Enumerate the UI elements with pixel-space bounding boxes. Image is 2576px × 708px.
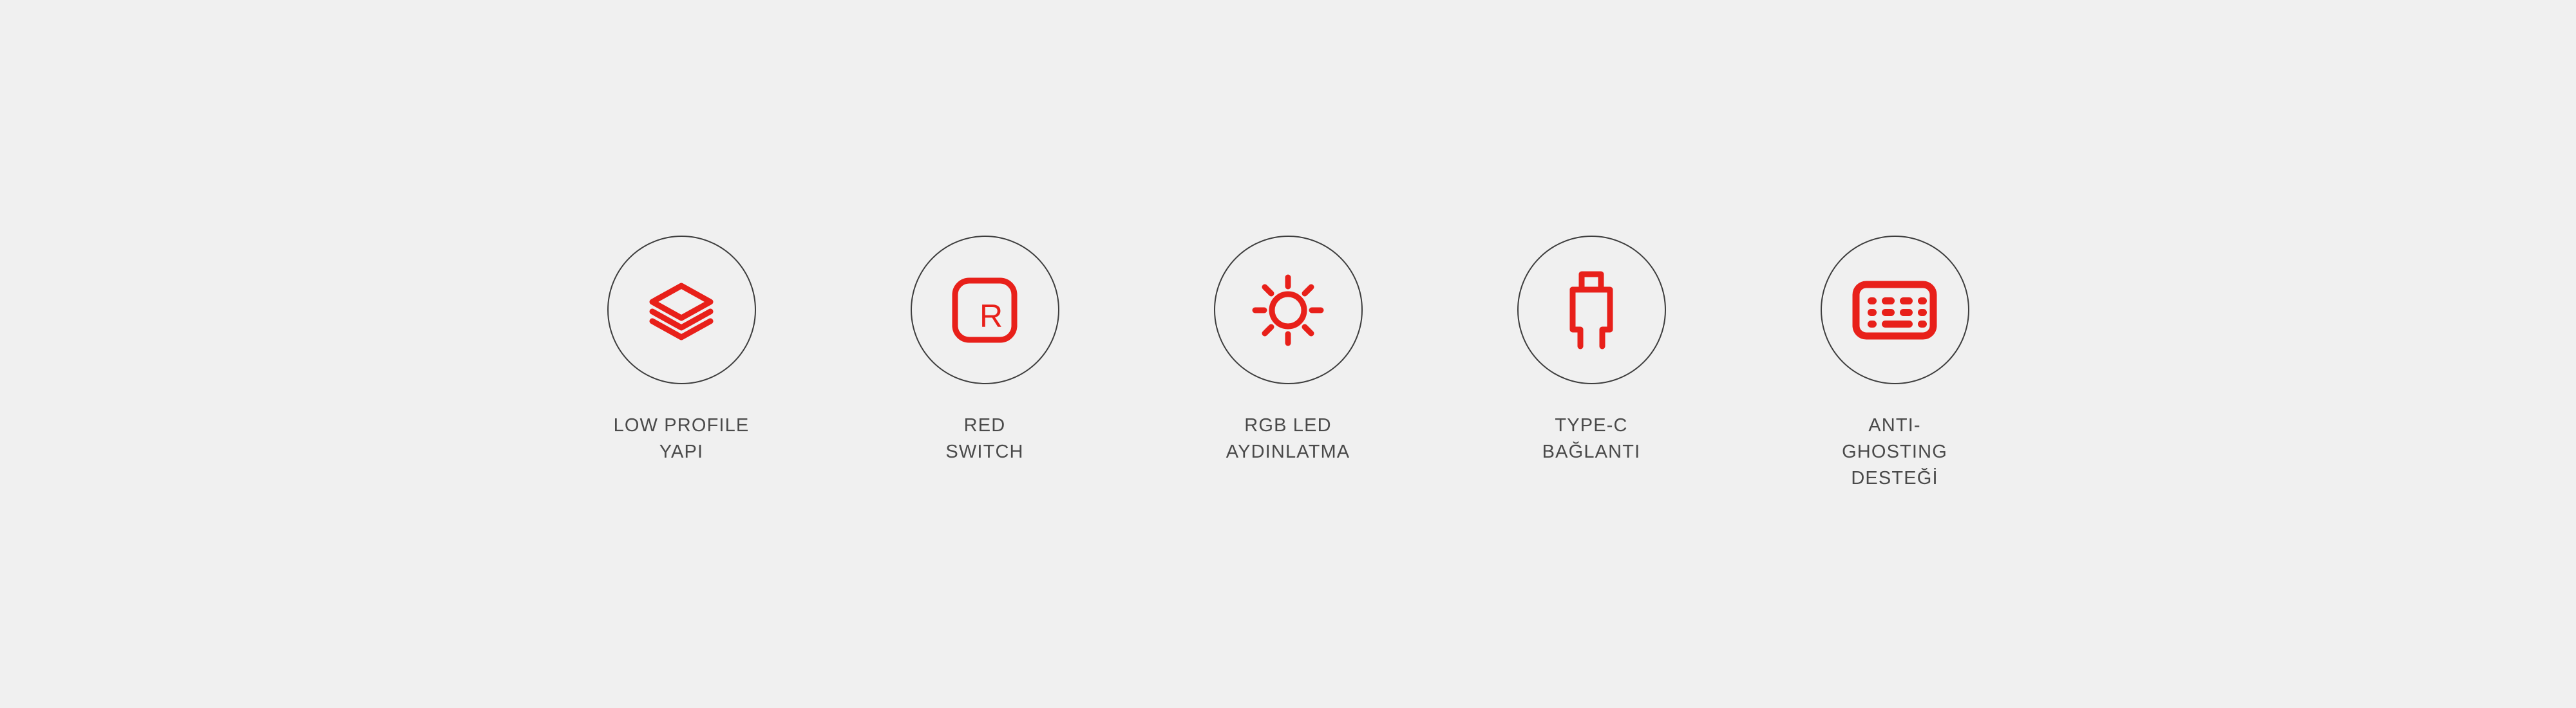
icon-circle-low-profile	[607, 236, 756, 384]
feature-item-red-switch: R RED SWITCH	[911, 236, 1059, 465]
red-switch-key-letter: R	[980, 298, 1003, 334]
feature-label-low-profile: LOW PROFILE YAPI	[614, 413, 750, 465]
icon-circle-type-c	[1517, 236, 1666, 384]
layers-icon	[643, 272, 720, 349]
icon-circle-anti-ghosting	[1821, 236, 1969, 384]
feature-label-rgb-led: RGB LED AYDINLATMA	[1226, 413, 1350, 465]
usb-type-c-connector-icon	[1566, 270, 1616, 350]
keyboard-icon	[1852, 278, 1937, 342]
feature-item-low-profile: LOW PROFILE YAPI	[607, 236, 756, 465]
feature-label-red-switch: RED SWITCH	[945, 413, 1023, 465]
icon-circle-rgb-led	[1214, 236, 1363, 384]
feature-item-type-c: TYPE-C BAĞLANTI	[1517, 236, 1666, 465]
feature-label-type-c: TYPE-C BAĞLANTI	[1542, 413, 1641, 465]
sun-brightness-icon	[1250, 272, 1326, 348]
red-switch-key-icon: R	[950, 275, 1019, 345]
feature-highlights-strip: LOW PROFILE YAPI R RED SWITCH	[0, 0, 2576, 708]
feature-label-anti-ghosting: ANTI-GHOSTING DESTEĞİ	[1821, 413, 1969, 492]
feature-item-rgb-led: RGB LED AYDINLATMA	[1214, 236, 1363, 465]
icon-circle-red-switch: R	[911, 236, 1059, 384]
feature-item-anti-ghosting: ANTI-GHOSTING DESTEĞİ	[1821, 236, 1969, 492]
